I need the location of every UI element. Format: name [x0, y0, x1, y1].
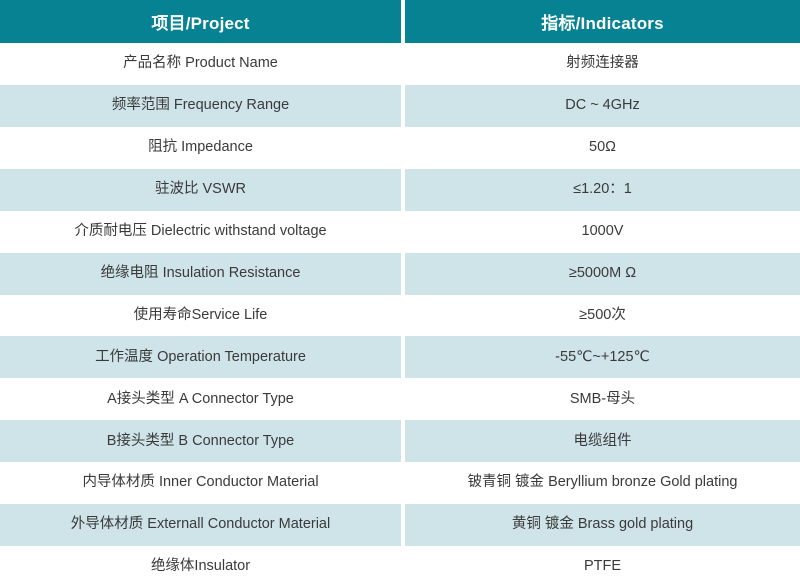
cell-indicator: -55℃~+125℃	[405, 336, 800, 378]
cell-indicator: ≤1.20：1	[405, 169, 800, 211]
specification-table: 项目/Project 指标/Indicators 产品名称 Product Na…	[0, 0, 800, 588]
cell-indicator: 黄铜 镀金 Brass gold plating	[405, 504, 800, 546]
cell-indicator: 1000V	[405, 211, 800, 253]
table-row: B接头类型 B Connector Type电缆组件	[0, 420, 800, 462]
column-header-indicators: 指标/Indicators	[405, 0, 800, 43]
table-row: A接头类型 A Connector TypeSMB-母头	[0, 378, 800, 420]
table-header-row: 项目/Project 指标/Indicators	[0, 0, 800, 43]
cell-project: A接头类型 A Connector Type	[0, 378, 401, 420]
table-row: 工作温度 Operation Temperature-55℃~+125℃	[0, 336, 800, 378]
column-header-project: 项目/Project	[0, 0, 401, 43]
cell-indicator: 铍青铜 镀金 Beryllium bronze Gold plating	[405, 462, 800, 504]
cell-project: B接头类型 B Connector Type	[0, 420, 401, 462]
cell-project: 产品名称 Product Name	[0, 43, 401, 85]
cell-project: 阻抗 Impedance	[0, 127, 401, 169]
cell-project: 使用寿命Service Life	[0, 295, 401, 337]
cell-project: 驻波比 VSWR	[0, 169, 401, 211]
table-row: 驻波比 VSWR≤1.20：1	[0, 169, 800, 211]
cell-indicator: ≥500次	[405, 295, 800, 337]
table-row: 频率范围 Frequency RangeDC ~ 4GHz	[0, 85, 800, 127]
table-row: 内导体材质 Inner Conductor Material铍青铜 镀金 Ber…	[0, 462, 800, 504]
cell-project: 工作温度 Operation Temperature	[0, 336, 401, 378]
cell-project: 频率范围 Frequency Range	[0, 85, 401, 127]
cell-project: 内导体材质 Inner Conductor Material	[0, 462, 401, 504]
cell-indicator: DC ~ 4GHz	[405, 85, 800, 127]
table-row: 绝缘体InsulatorPTFE	[0, 546, 800, 588]
table-row: 产品名称 Product Name射频连接器	[0, 43, 800, 85]
table-row: 介质耐电压 Dielectric withstand voltage1000V	[0, 211, 800, 253]
cell-indicator: 电缆组件	[405, 420, 800, 462]
cell-indicator: PTFE	[405, 546, 800, 588]
table-body: 产品名称 Product Name射频连接器频率范围 Frequency Ran…	[0, 43, 800, 588]
cell-indicator: ≥5000M Ω	[405, 253, 800, 295]
cell-project: 外导体材质 Externall Conductor Material	[0, 504, 401, 546]
table-row: 外导体材质 Externall Conductor Material黄铜 镀金 …	[0, 504, 800, 546]
cell-project: 介质耐电压 Dielectric withstand voltage	[0, 211, 401, 253]
cell-project: 绝缘电阻 Insulation Resistance	[0, 253, 401, 295]
cell-indicator: SMB-母头	[405, 378, 800, 420]
table-row: 使用寿命Service Life≥500次	[0, 295, 800, 337]
cell-indicator: 射频连接器	[405, 43, 800, 85]
table-row: 阻抗 Impedance50Ω	[0, 127, 800, 169]
table-row: 绝缘电阻 Insulation Resistance≥5000M Ω	[0, 253, 800, 295]
cell-indicator: 50Ω	[405, 127, 800, 169]
cell-project: 绝缘体Insulator	[0, 546, 401, 588]
